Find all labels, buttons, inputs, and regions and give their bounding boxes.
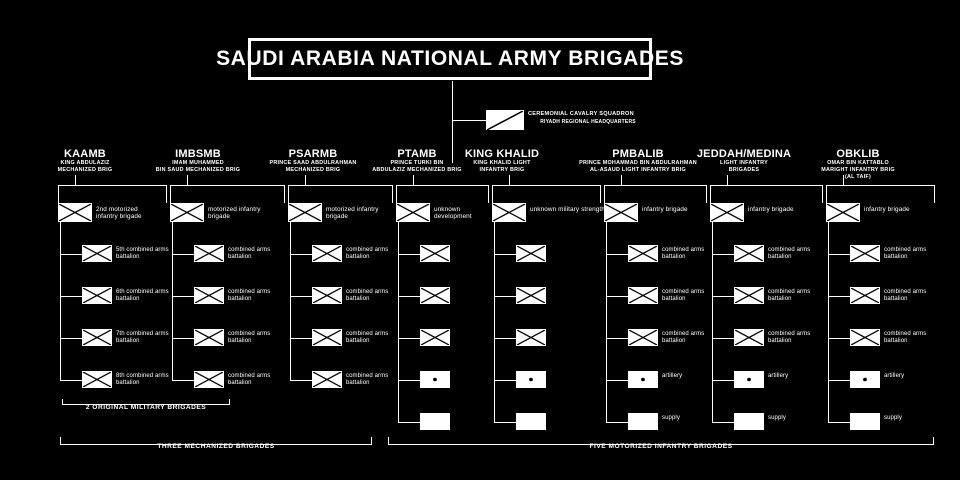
infantry-symbol [420, 287, 450, 304]
column-spine-2 [290, 222, 291, 380]
infantry-symbol [516, 329, 546, 346]
column-full-name-line-3: (AL TAIF) [794, 174, 922, 181]
unit-label: 6th combined arms battalion [116, 289, 178, 303]
column-drop-1 [187, 175, 188, 185]
column-spine-4 [494, 222, 495, 422]
unit-connector-4-3 [494, 338, 516, 339]
column-drop-7 [843, 175, 844, 185]
column-rail-1 [170, 185, 284, 186]
unit-label: combined arms battalion [228, 247, 290, 261]
unit-connector-7-4 [828, 380, 850, 381]
supply-symbol [628, 413, 658, 430]
column-rail-4 [492, 185, 600, 186]
infantry-symbol [82, 329, 112, 346]
unit-connector-1-2 [172, 296, 194, 297]
supply-symbol [850, 413, 880, 430]
column-drop-6 [727, 175, 728, 185]
unit-connector-1-4 [172, 380, 194, 381]
infantry-symbol [850, 245, 880, 262]
column-rail-7 [826, 185, 934, 186]
infantry-symbol [734, 329, 764, 346]
org-chart-canvas: SAUDI ARABIA NATIONAL ARMY BRIGADES CERE… [0, 0, 960, 480]
unit-connector-7-2 [828, 296, 850, 297]
infantry-symbol [58, 203, 92, 222]
column-drop-2 [305, 175, 306, 185]
unit-label: supply [768, 415, 830, 422]
column-full-name-line-2: MECHANIZED BRIG [29, 167, 141, 174]
unit-label: infantry brigade [748, 206, 810, 213]
column-header-king-khalid: KING KHALIDKING KHALID LIGHTINFANTRY BRI… [454, 148, 550, 174]
column-drop-3 [413, 175, 414, 185]
unit-label: combined arms battalion [884, 289, 946, 303]
unit-connector-0-3 [60, 338, 82, 339]
column-rail-right-tick-0 [166, 185, 167, 203]
infantry-symbol [194, 287, 224, 304]
cavalry-squadron-symbol [486, 110, 524, 130]
column-rail-3 [396, 185, 488, 186]
column-rail-right-tick-1 [284, 185, 285, 203]
artillery-symbol [628, 371, 658, 388]
column-rail-0 [58, 185, 166, 186]
unit-label: 8th combined arms battalion [116, 373, 178, 387]
supply-symbol [516, 413, 546, 430]
unit-connector-5-3 [606, 338, 628, 339]
unit-connector-2-3 [290, 338, 312, 339]
unit-connector-5-4 [606, 380, 628, 381]
column-rail-left-tick-7 [826, 185, 827, 203]
infantry-symbol [312, 329, 342, 346]
column-full-name-line-1: IMAM MUHAMMED [133, 160, 263, 167]
column-drop-5 [621, 175, 622, 185]
column-full-name-line-2: MARIGHT INFANTRY BRIG [794, 167, 922, 174]
column-drop-0 [75, 175, 76, 185]
column-spine-6 [712, 222, 713, 422]
column-rail-right-tick-2 [392, 185, 393, 203]
column-header-imbsmb: IMBSMBIMAM MUHAMMEDBIN SAUD MECHANIZED B… [133, 148, 263, 174]
infantry-symbol [194, 371, 224, 388]
unit-connector-4-5 [494, 422, 516, 423]
artillery-symbol [734, 371, 764, 388]
infantry-symbol [82, 287, 112, 304]
column-rail-left-tick-3 [396, 185, 397, 203]
column-full-name-line-2: INFANTRY BRIG [454, 167, 550, 174]
column-header-jeddah-medina: JEDDAH/MEDINALIGHT INFANTRYBRIGADES [685, 148, 803, 174]
unit-label: artillery [768, 373, 830, 380]
column-abbr: OBKLIB [794, 148, 922, 160]
column-abbr: KAAMB [29, 148, 141, 160]
unit-label: 7th combined arms battalion [116, 331, 178, 345]
infantry-symbol [288, 203, 322, 222]
unit-connector-5-5 [606, 422, 628, 423]
infantry-symbol [312, 287, 342, 304]
infantry-symbol [628, 245, 658, 262]
unit-connector-3-1 [398, 254, 420, 255]
unit-connector-6-2 [712, 296, 734, 297]
column-full-name-line-1: KING ABDULAZIZ [29, 160, 141, 167]
artillery-symbol [850, 371, 880, 388]
infantry-symbol [628, 287, 658, 304]
unit-connector-1-1 [172, 254, 194, 255]
unit-connector-2-1 [290, 254, 312, 255]
infantry-symbol [734, 287, 764, 304]
unit-label: 2nd motorized infantry brigade [96, 206, 158, 221]
unit-connector-6-4 [712, 380, 734, 381]
unit-connector-0-1 [60, 254, 82, 255]
unit-label: 5th combined arms battalion [116, 247, 178, 261]
column-abbr: KING KHALID [454, 148, 550, 160]
infantry-symbol [420, 245, 450, 262]
artillery-symbol [516, 371, 546, 388]
unit-connector-2-4 [290, 380, 312, 381]
infantry-symbol [628, 329, 658, 346]
unit-connector-2-2 [290, 296, 312, 297]
page-title: SAUDI ARABIA NATIONAL ARMY BRIGADES [216, 47, 684, 71]
infantry-symbol [312, 245, 342, 262]
column-drop-4 [509, 175, 510, 185]
unit-label: supply [884, 415, 946, 422]
column-spine-0 [60, 222, 61, 380]
column-rail-right-tick-4 [600, 185, 601, 203]
column-rail-right-tick-3 [488, 185, 489, 203]
infantry-symbol [492, 203, 526, 222]
column-rail-2 [288, 185, 392, 186]
unit-label: infantry brigade [642, 206, 704, 213]
column-header-obklib: OBKLIBOMAR BIN KATTABLOMARIGHT INFANTRY … [794, 148, 922, 182]
unit-connector-6-5 [712, 422, 734, 423]
column-rail-6 [710, 185, 822, 186]
column-rail-right-tick-6 [822, 185, 823, 203]
infantry-symbol [710, 203, 744, 222]
cavalry-line-1: CEREMONIAL CAVALRY SQUADRON [528, 110, 708, 118]
infantry-symbol [194, 329, 224, 346]
unit-connector-3-5 [398, 422, 420, 423]
infantry-symbol [850, 287, 880, 304]
unit-label: unknown development [434, 206, 496, 221]
cavalry-connector-line [452, 120, 486, 121]
unit-connector-1-3 [172, 338, 194, 339]
column-full-name-line-2: BRIGADES [685, 167, 803, 174]
infantry-symbol [420, 329, 450, 346]
infantry-symbol [850, 329, 880, 346]
caption-motorized-brigades: FIVE MOTORIZED INFANTRY BRIGADES [388, 443, 934, 450]
column-spine-1 [172, 222, 173, 380]
unit-label: motorized infantry brigade [208, 206, 270, 221]
column-rail-right-tick-7 [934, 185, 935, 203]
column-rail-right-tick-5 [706, 185, 707, 203]
unit-label: infantry brigade [864, 206, 926, 213]
unit-connector-7-1 [828, 254, 850, 255]
supply-symbol [420, 413, 450, 430]
unit-connector-0-4 [60, 380, 82, 381]
infantry-symbol [826, 203, 860, 222]
column-rail-left-tick-0 [58, 185, 59, 203]
infantry-symbol [170, 203, 204, 222]
unit-connector-6-1 [712, 254, 734, 255]
unit-connector-0-2 [60, 296, 82, 297]
column-full-name-line-2: BIN SAUD MECHANIZED BRIG [133, 167, 263, 174]
infantry-symbol [82, 245, 112, 262]
supply-symbol [734, 413, 764, 430]
column-spine-7 [828, 222, 829, 422]
unit-connector-4-4 [494, 380, 516, 381]
unit-label: motorized infantry brigade [326, 206, 388, 221]
unit-connector-7-5 [828, 422, 850, 423]
unit-connector-5-2 [606, 296, 628, 297]
caption-original-brigades: 2 ORIGINAL MILITARY BRIGADES [62, 404, 230, 411]
artillery-symbol [420, 371, 450, 388]
caption-mechanized-brigades: THREE MECHANIZED BRIGADES [60, 443, 372, 450]
unit-label: combined arms battalion [228, 289, 290, 303]
column-rail-left-tick-1 [170, 185, 171, 203]
column-rail-5 [604, 185, 706, 186]
unit-label: combined arms battalion [768, 289, 830, 303]
infantry-symbol [396, 203, 430, 222]
column-spine-3 [398, 222, 399, 422]
infantry-symbol [312, 371, 342, 388]
unit-label: artillery [884, 373, 946, 380]
unit-label: combined arms battalion [768, 331, 830, 345]
cavalry-squadron-label: CEREMONIAL CAVALRY SQUADRON RIYADH REGIO… [528, 110, 708, 126]
infantry-symbol [516, 287, 546, 304]
column-full-name-line-1: OMAR BIN KATTABLO [794, 160, 922, 167]
unit-connector-6-3 [712, 338, 734, 339]
unit-label: combined arms battalion [884, 331, 946, 345]
column-header-kaamb: KAAMBKING ABDULAZIZMECHANIZED BRIG [29, 148, 141, 174]
column-spine-5 [606, 222, 607, 422]
unit-label: combined arms battalion [228, 373, 290, 387]
infantry-symbol [516, 245, 546, 262]
unit-label: combined arms battalion [768, 247, 830, 261]
unit-label: combined arms battalion [228, 331, 290, 345]
column-rail-left-tick-6 [710, 185, 711, 203]
column-full-name-line-1: KING KHALID LIGHT [454, 160, 550, 167]
unit-label: combined arms battalion [884, 247, 946, 261]
unit-connector-3-3 [398, 338, 420, 339]
column-rail-left-tick-2 [288, 185, 289, 203]
column-abbr: JEDDAH/MEDINA [685, 148, 803, 160]
infantry-symbol [604, 203, 638, 222]
infantry-symbol [82, 371, 112, 388]
column-abbr: IMBSMB [133, 148, 263, 160]
unit-connector-7-3 [828, 338, 850, 339]
infantry-symbol [734, 245, 764, 262]
unit-connector-4-1 [494, 254, 516, 255]
unit-connector-3-4 [398, 380, 420, 381]
chart-title-box: SAUDI ARABIA NATIONAL ARMY BRIGADES [248, 38, 652, 80]
unit-connector-3-2 [398, 296, 420, 297]
column-rail-left-tick-5 [604, 185, 605, 203]
column-full-name-line-1: LIGHT INFANTRY [685, 160, 803, 167]
unit-connector-5-1 [606, 254, 628, 255]
cavalry-line-2: RIYADH REGIONAL HEADQUARTERS [528, 118, 648, 126]
unit-connector-4-2 [494, 296, 516, 297]
infantry-symbol [194, 245, 224, 262]
column-rail-left-tick-4 [492, 185, 493, 203]
